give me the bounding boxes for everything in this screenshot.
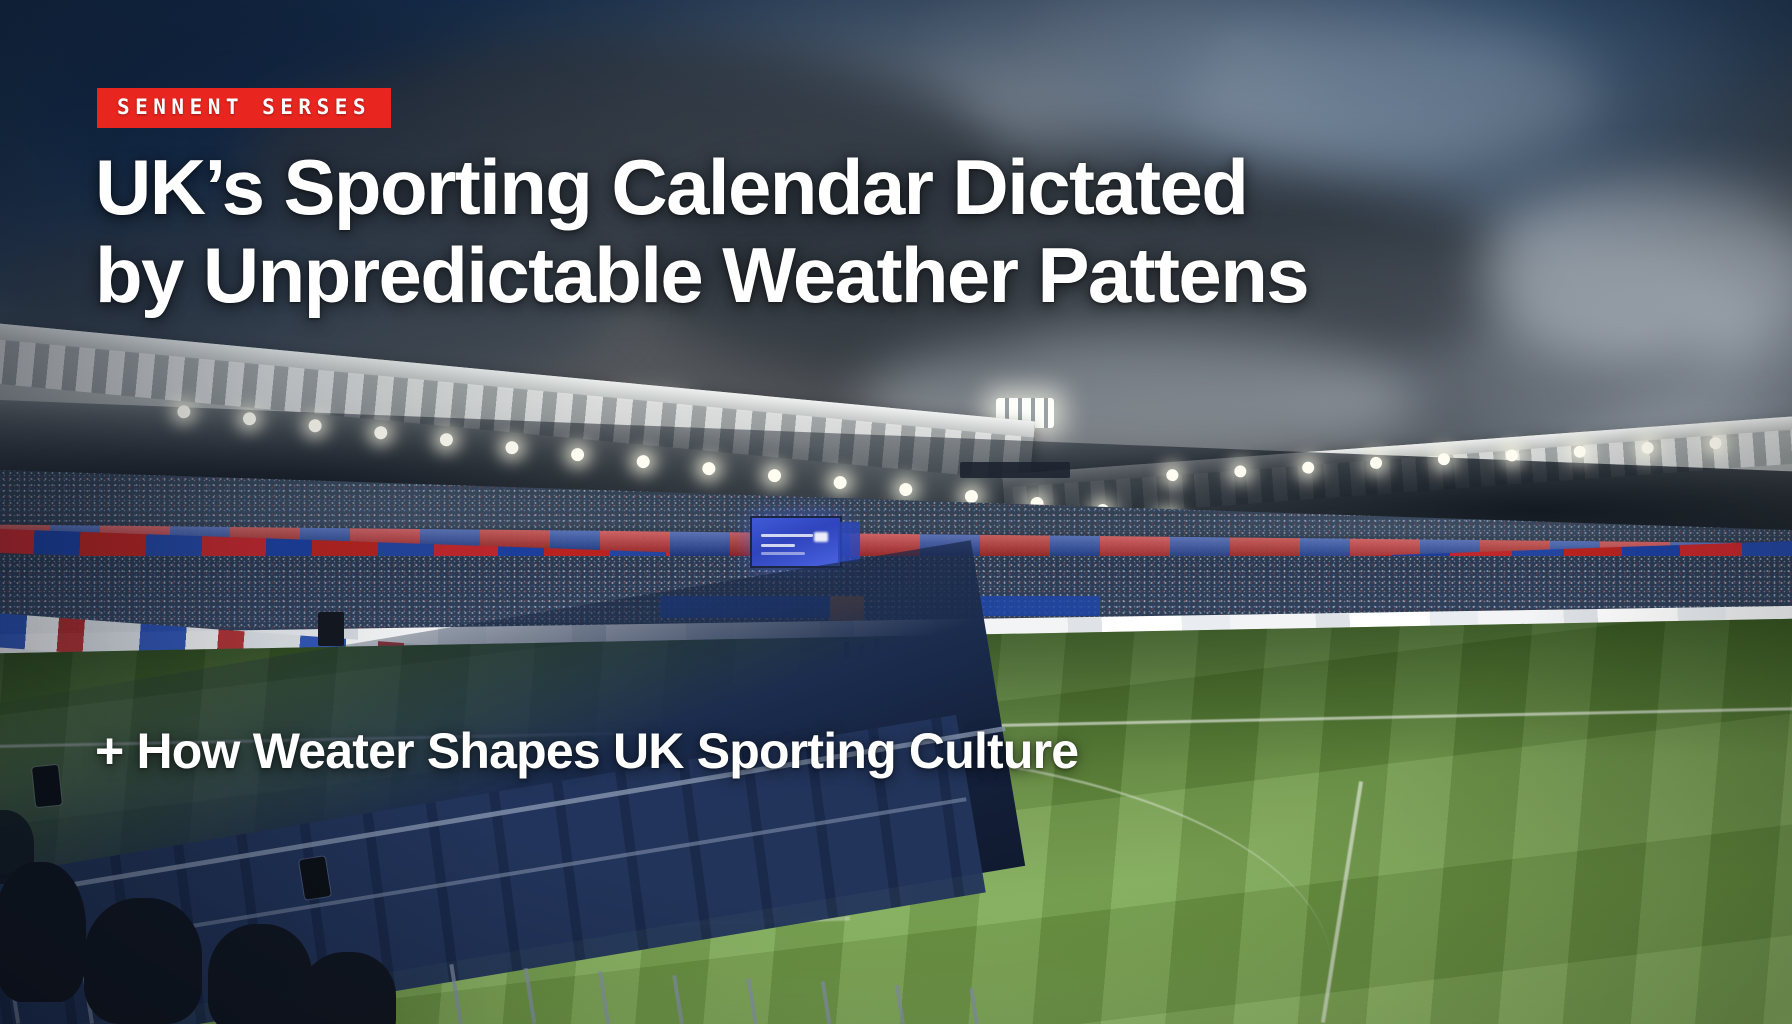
text-overlay: SENNENT SERSES UK’s Sporting Calendar Di… bbox=[0, 0, 1792, 1024]
kicker-badge: SENNENT SERSES bbox=[97, 88, 391, 128]
kicker-label: SENNENT SERSES bbox=[117, 97, 371, 118]
article-hero-banner: SENNENT SERSES UK’s Sporting Calendar Di… bbox=[0, 0, 1792, 1024]
page-title: UK’s Sporting Calendar Dictated by Unpre… bbox=[95, 143, 1395, 319]
subheadline: + How Weater Shapes UK Sporting Culture bbox=[95, 724, 1495, 779]
